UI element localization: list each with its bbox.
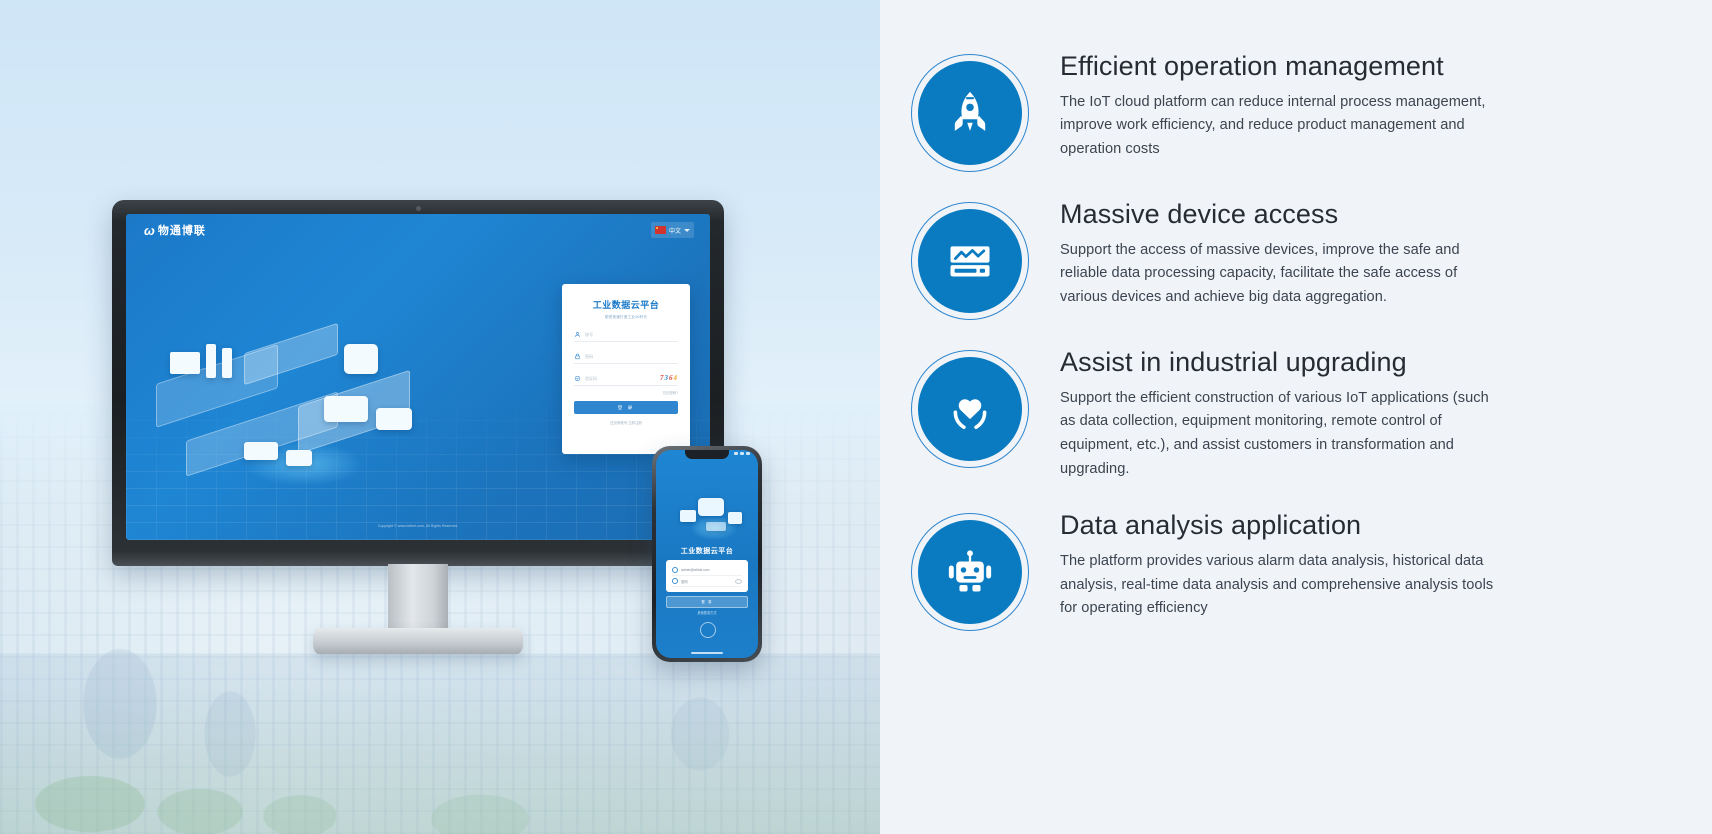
feature-text: Assist in industrial upgrading Support t… bbox=[1060, 340, 1496, 481]
feature-description: Support the efficient construction of va… bbox=[1060, 387, 1496, 482]
phone-username-value: admin@wtlink.com bbox=[681, 568, 710, 572]
phone-status-bar bbox=[734, 452, 750, 455]
feature-icon-container bbox=[880, 44, 1060, 172]
monitor-stand-neck bbox=[388, 564, 448, 632]
hero-panel: ω 物通博联 中文 bbox=[0, 0, 880, 834]
phone-screen: 工业数据云平台 admin@wtlink.com 密码 登 录 其他登录方式 bbox=[656, 450, 758, 658]
screen-topbar: ω 物通博联 中文 bbox=[126, 214, 710, 246]
language-switcher[interactable]: 中文 bbox=[651, 222, 694, 238]
smartphone-mockup: 工业数据云平台 admin@wtlink.com 密码 登 录 其他登录方式 bbox=[652, 446, 762, 662]
feature-description: Support the access of massive devices, i… bbox=[1060, 239, 1496, 310]
feature-item-data-analysis-application: Data analysis application The platform p… bbox=[880, 503, 1672, 631]
feature-item-massive-device-access: Massive device access Support the access… bbox=[880, 192, 1672, 320]
icon-ring bbox=[911, 350, 1029, 468]
monitor-screen: ω 物通博联 中文 bbox=[126, 214, 710, 540]
feature-item-efficient-operation-management: Efficient operation management The IoT c… bbox=[880, 44, 1672, 172]
captcha-code: 7364 bbox=[660, 374, 678, 382]
phone-illustration bbox=[672, 480, 750, 540]
feature-title: Assist in industrial upgrading bbox=[1060, 344, 1496, 381]
feature-icon-container bbox=[880, 503, 1060, 631]
icon-disc bbox=[918, 357, 1022, 461]
foliage-background bbox=[0, 684, 880, 834]
heart-hands-icon bbox=[944, 383, 996, 435]
icon-disc bbox=[918, 61, 1022, 165]
feature-text: Data analysis application The platform p… bbox=[1060, 503, 1496, 621]
icon-ring bbox=[911, 202, 1029, 320]
phone-home-indicator bbox=[691, 652, 723, 654]
isometric-illustration bbox=[148, 292, 428, 492]
login-subtitle: 助您快速打造工业40时代 bbox=[574, 315, 678, 320]
feature-icon-container bbox=[880, 192, 1060, 320]
icon-disc bbox=[918, 520, 1022, 624]
username-placeholder: 账号 bbox=[585, 332, 593, 338]
icon-ring bbox=[911, 513, 1029, 631]
rocket-icon bbox=[944, 87, 996, 139]
feature-title: Data analysis application bbox=[1060, 507, 1496, 544]
desktop-monitor-mockup: ω 物通博联 中文 bbox=[112, 200, 724, 660]
phone-other-login-icon[interactable] bbox=[700, 622, 716, 638]
monitor-bezel: ω 物通博联 中文 bbox=[112, 200, 724, 566]
device-monitor-icon bbox=[944, 235, 996, 287]
phone-login-title: 工业数据云平台 bbox=[656, 546, 758, 556]
username-field[interactable]: 账号 bbox=[574, 325, 678, 342]
feature-text: Efficient operation management The IoT c… bbox=[1060, 44, 1496, 162]
chevron-down-icon bbox=[684, 229, 690, 232]
phone-password-field[interactable]: 密码 bbox=[672, 576, 742, 587]
phone-login-card: admin@wtlink.com 密码 bbox=[666, 560, 748, 592]
logo-text: 物通博联 bbox=[158, 222, 206, 238]
feature-item-assist-in-industrial-upgrading: Assist in industrial upgrading Support t… bbox=[880, 340, 1672, 481]
user-icon bbox=[574, 331, 581, 338]
shield-check-icon bbox=[574, 375, 581, 382]
promo-page: ω 物通博联 中文 bbox=[0, 0, 1712, 834]
webcam-icon bbox=[416, 206, 421, 211]
feature-text: Massive device access Support the access… bbox=[1060, 192, 1496, 310]
captcha-placeholder: 验证码 bbox=[585, 376, 597, 382]
icon-disc bbox=[918, 209, 1022, 313]
feature-title: Efficient operation management bbox=[1060, 48, 1496, 85]
user-icon bbox=[672, 567, 678, 573]
icon-ring bbox=[911, 54, 1029, 172]
eye-icon[interactable] bbox=[735, 579, 742, 584]
feature-description: The IoT cloud platform can reduce intern… bbox=[1060, 91, 1496, 162]
password-field[interactable]: 密码 bbox=[574, 347, 678, 364]
phone-password-placeholder: 密码 bbox=[681, 579, 688, 584]
feature-title: Massive device access bbox=[1060, 196, 1496, 233]
captcha-field[interactable]: 验证码 7364 bbox=[574, 369, 678, 386]
monitor-stand-base bbox=[313, 628, 523, 654]
phone-login-button[interactable]: 登 录 bbox=[666, 596, 748, 608]
forgot-password-link[interactable]: 忘记密码? bbox=[574, 390, 678, 395]
robot-icon bbox=[944, 546, 996, 598]
password-placeholder: 密码 bbox=[585, 354, 593, 360]
phone-notch bbox=[685, 450, 729, 459]
phone-other-login-label: 其他登录方式 bbox=[656, 610, 758, 615]
feature-list: Efficient operation management The IoT c… bbox=[880, 0, 1712, 834]
feature-icon-container bbox=[880, 340, 1060, 468]
screen-copyright: Copyright © www.iotheri.com, All Rights … bbox=[126, 524, 710, 528]
phone-username-field[interactable]: admin@wtlink.com bbox=[672, 565, 742, 576]
language-label: 中文 bbox=[669, 226, 681, 235]
platform-logo: ω 物通博联 bbox=[144, 222, 206, 238]
lock-icon bbox=[574, 353, 581, 360]
flag-icon bbox=[655, 226, 666, 234]
feature-description: The platform provides various alarm data… bbox=[1060, 550, 1496, 621]
login-card: 工业数据云平台 助您快速打造工业40时代 账号 密 bbox=[562, 284, 690, 454]
login-title: 工业数据云平台 bbox=[574, 298, 678, 311]
register-link[interactable]: 还没有账号,立即注册 bbox=[574, 420, 678, 425]
lock-icon bbox=[672, 578, 678, 584]
logo-mark-icon: ω bbox=[144, 223, 154, 238]
login-submit-button[interactable]: 登 录 bbox=[574, 401, 678, 414]
